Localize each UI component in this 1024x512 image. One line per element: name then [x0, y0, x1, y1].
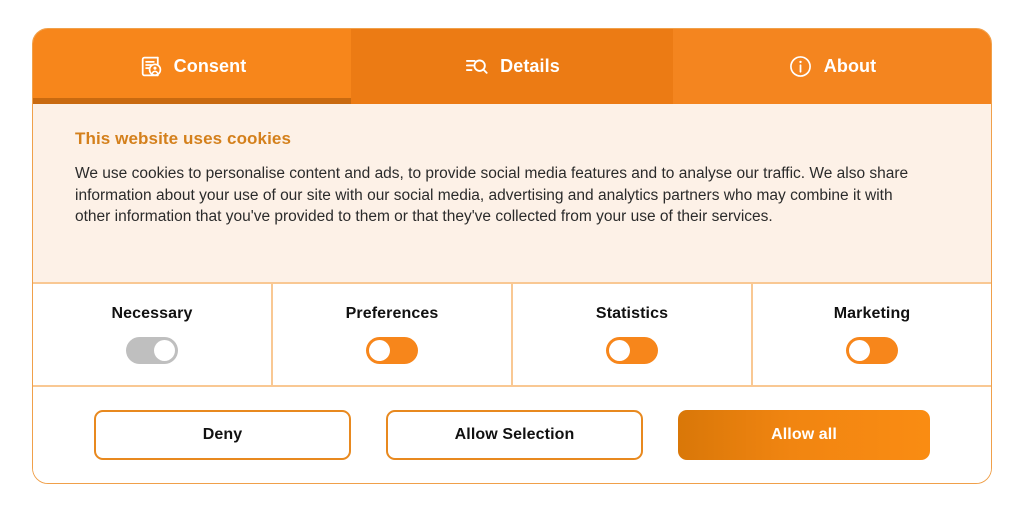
action-button-row: Deny Allow Selection Allow all [33, 387, 991, 483]
category-necessary-label: Necessary [112, 305, 193, 323]
tab-consent[interactable]: Consent [33, 29, 351, 104]
category-statistics-label: Statistics [596, 305, 668, 323]
tab-about-label: About [824, 56, 876, 77]
tab-details[interactable]: Details [351, 29, 673, 104]
toggle-statistics[interactable] [606, 337, 658, 364]
deny-button[interactable]: Deny [94, 410, 351, 460]
screen: Consent Details [0, 0, 1024, 512]
info-circle-icon [788, 54, 813, 79]
category-necessary: Necessary [33, 284, 273, 385]
list-search-icon [464, 54, 489, 79]
toggle-knob [369, 340, 390, 361]
tab-bar: Consent Details [33, 29, 991, 104]
toggle-knob [849, 340, 870, 361]
category-marketing-label: Marketing [834, 305, 910, 323]
consent-description-section: This website uses cookies We use cookies… [33, 104, 991, 284]
toggle-marketing[interactable] [846, 337, 898, 364]
tab-consent-label: Consent [174, 56, 247, 77]
category-preferences-label: Preferences [346, 305, 439, 323]
toggle-preferences[interactable] [366, 337, 418, 364]
allow-selection-button[interactable]: Allow Selection [386, 410, 643, 460]
consent-paragraph: We use cookies to personalise content an… [75, 163, 930, 228]
page-title: This website uses cookies [75, 129, 949, 149]
toggle-necessary [126, 337, 178, 364]
category-preferences: Preferences [273, 284, 513, 385]
document-person-icon [138, 54, 163, 79]
tab-details-label: Details [500, 56, 560, 77]
category-toggle-row: Necessary Preferences Statistics Marketi… [33, 284, 991, 387]
toggle-knob [154, 340, 175, 361]
category-marketing: Marketing [753, 284, 991, 385]
category-statistics: Statistics [513, 284, 753, 385]
allow-all-button[interactable]: Allow all [678, 410, 930, 460]
cookie-consent-dialog: Consent Details [32, 28, 992, 484]
toggle-knob [609, 340, 630, 361]
tab-about[interactable]: About [673, 29, 991, 104]
